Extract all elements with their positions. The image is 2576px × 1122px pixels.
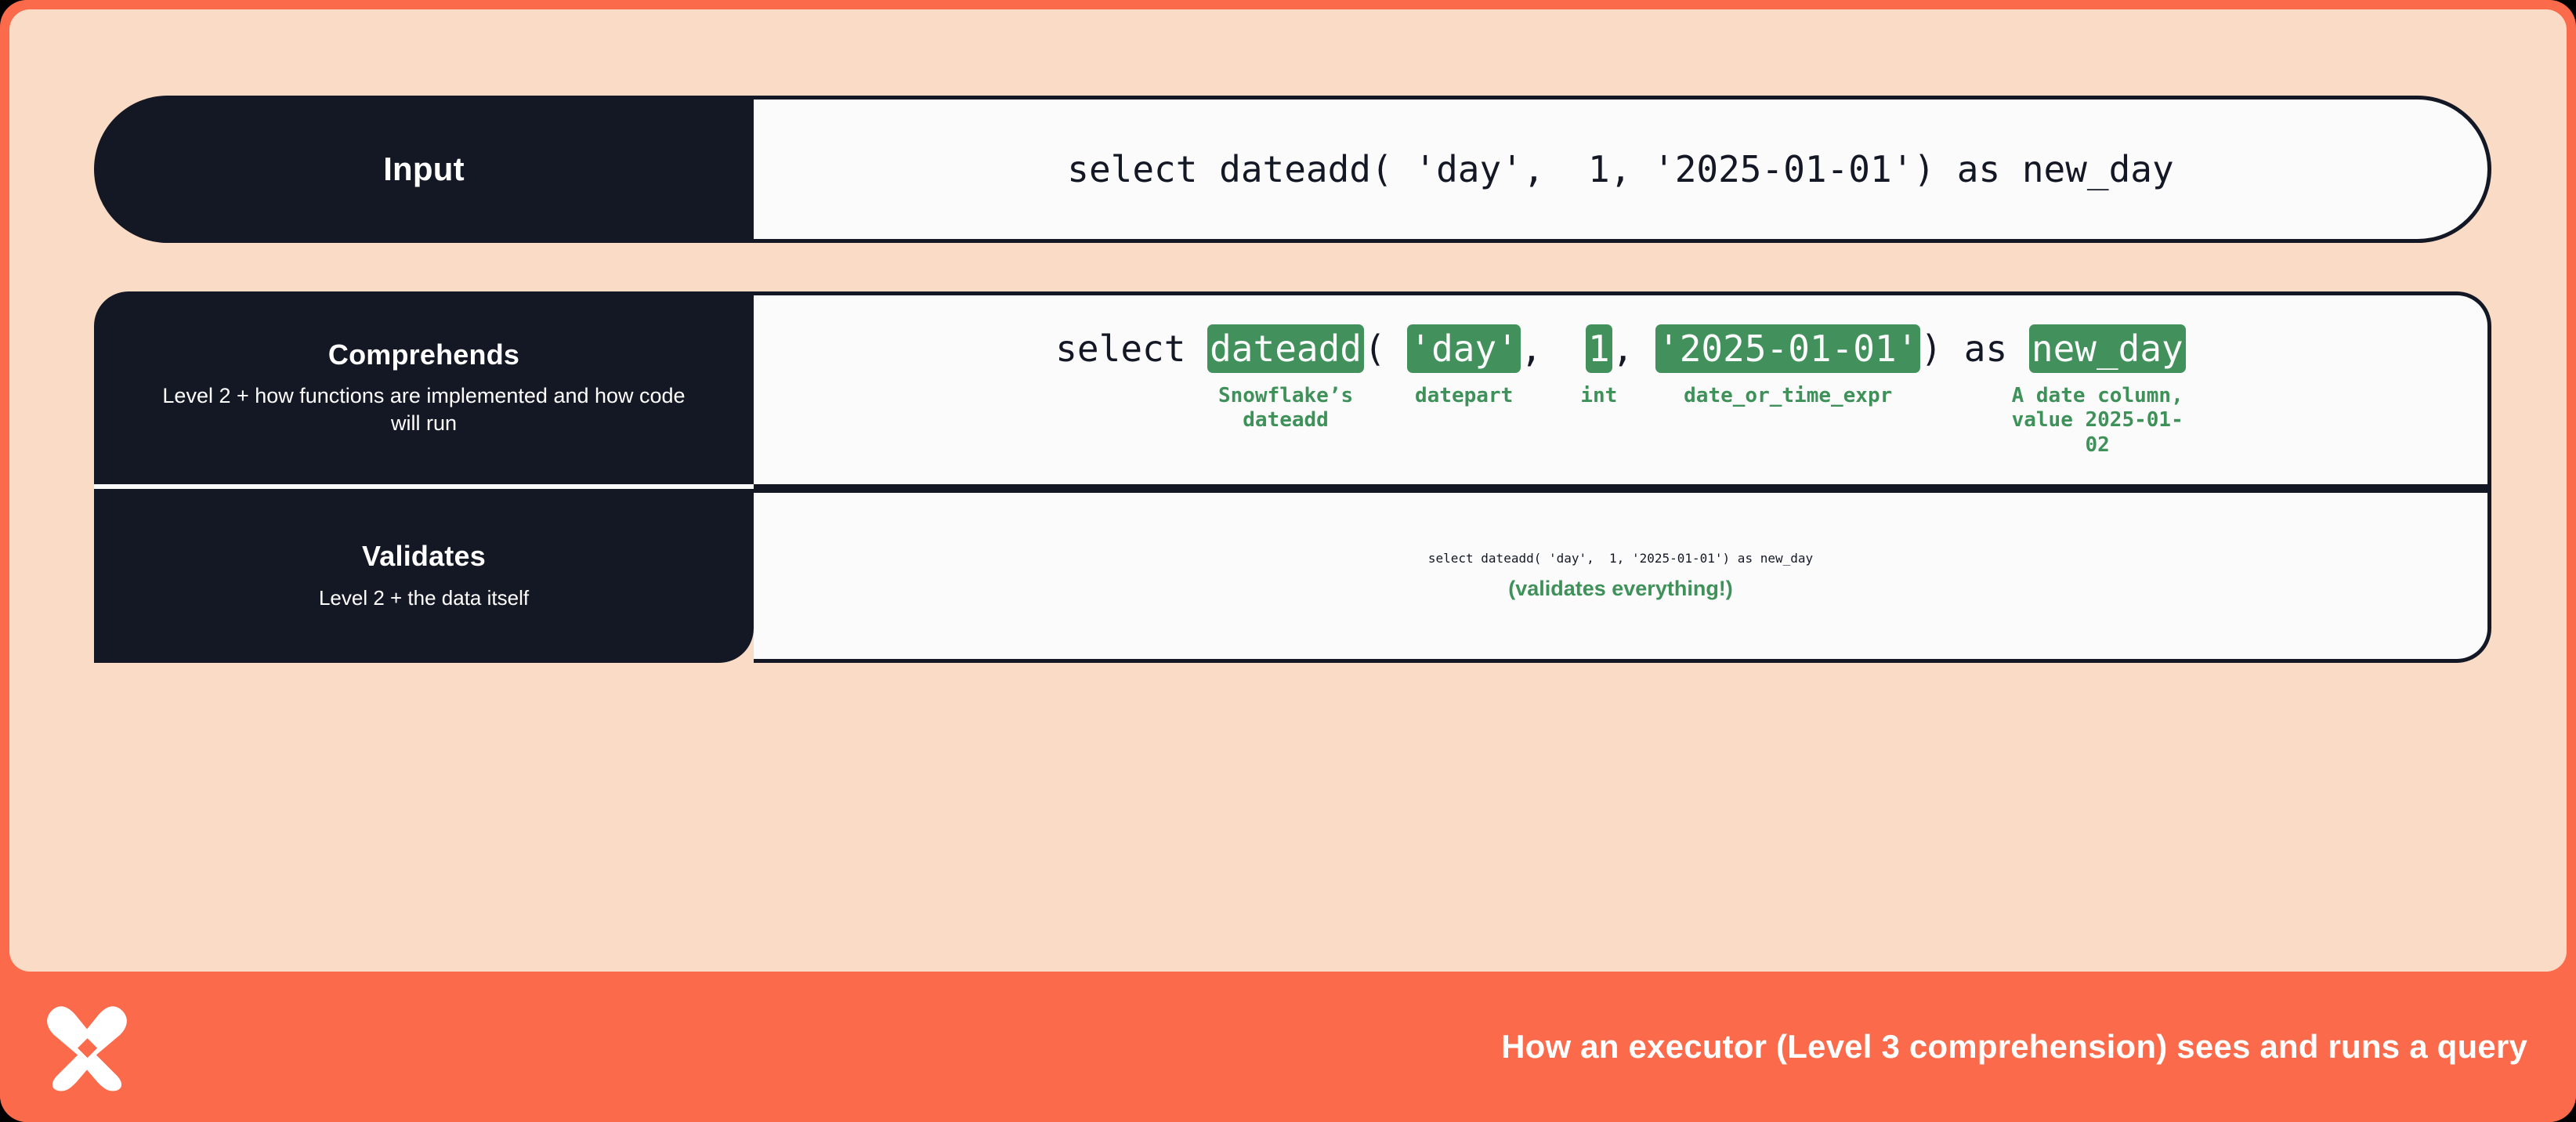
content-stage: Input select dateadd( 'day', 1, '2025-01… [9,9,2567,972]
row-comprehends-label-pane: Comprehends Level 2 + how functions are … [94,291,754,484]
row-comprehends-annotations: Snowflake’s dateadddatepartintdate_or_ti… [1055,384,2186,456]
code-token-highlight-9: new_day [2029,324,2186,373]
row-validates-code: select dateadd( 'day', 1, '2025-01-01') … [1428,551,1813,566]
rows-block: Comprehends Level 2 + how functions are … [94,291,2491,663]
row-validates-title: Validates [362,540,486,573]
annotation-4: A date column, value 2025-01-02 [2010,384,2186,458]
annotation-3: date_or_time_expr [1684,384,1892,409]
annotation-2: int [1580,384,1617,409]
code-token-highlight-7: '2025-01-01' [1655,324,1920,373]
code-token-6: , [1612,328,1655,370]
row-input: Input select dateadd( 'day', 1, '2025-01… [94,96,2491,243]
code-token-0: select [1055,328,1207,370]
poster-frame: Input select dateadd( 'day', 1, '2025-01… [0,0,2576,1122]
row-comprehends-code: select dateadd( 'day', 1, '2025-01-01') … [1055,324,2186,373]
row-validates-label-pane: Validates Level 2 + the data itself [94,489,754,663]
rows-container: Input select dateadd( 'day', 1, '2025-01… [94,96,2491,663]
code-token-8: ) as [1920,328,2028,370]
code-token-highlight-3: 'day' [1407,324,1520,373]
row-validates-code-pane: select dateadd( 'day', 1, '2025-01-01') … [754,489,2491,663]
footer-caption: How an executor (Level 3 comprehension) … [1501,1028,2527,1066]
annotated-code-wrap: select dateadd( 'day', 1, '2025-01-01') … [754,324,2487,456]
row-input-label-pane: Input [94,96,754,243]
annotation-0: Snowflake’s dateadd [1218,384,1353,433]
code-token-highlight-5: 1 [1586,324,1612,373]
code-token-4: , [1521,328,1586,370]
row-validates-note: (validates everything!) [1508,577,1733,601]
code-token-2: ( [1364,328,1407,370]
row-validates: Validates Level 2 + the data itself sele… [94,489,2491,663]
butterfly-x-logo [41,1001,133,1094]
annotation-1: datepart [1415,384,1513,409]
code-token-highlight-1: dateadd [1207,324,1364,373]
footer-bar: How an executor (Level 3 comprehension) … [0,972,2576,1122]
row-validates-subtitle: Level 2 + the data itself [319,585,529,612]
row-comprehends-code-pane: select dateadd( 'day', 1, '2025-01-01') … [754,291,2491,484]
row-input-code-pane: select dateadd( 'day', 1, '2025-01-01') … [754,96,2491,243]
row-comprehends-title: Comprehends [328,338,519,371]
row-comprehends-subtitle: Level 2 + how functions are implemented … [150,382,698,437]
row-comprehends: Comprehends Level 2 + how functions are … [94,291,2491,484]
row-input-code: select dateadd( 'day', 1, '2025-01-01') … [1067,148,2173,190]
row-input-title: Input [383,150,465,188]
